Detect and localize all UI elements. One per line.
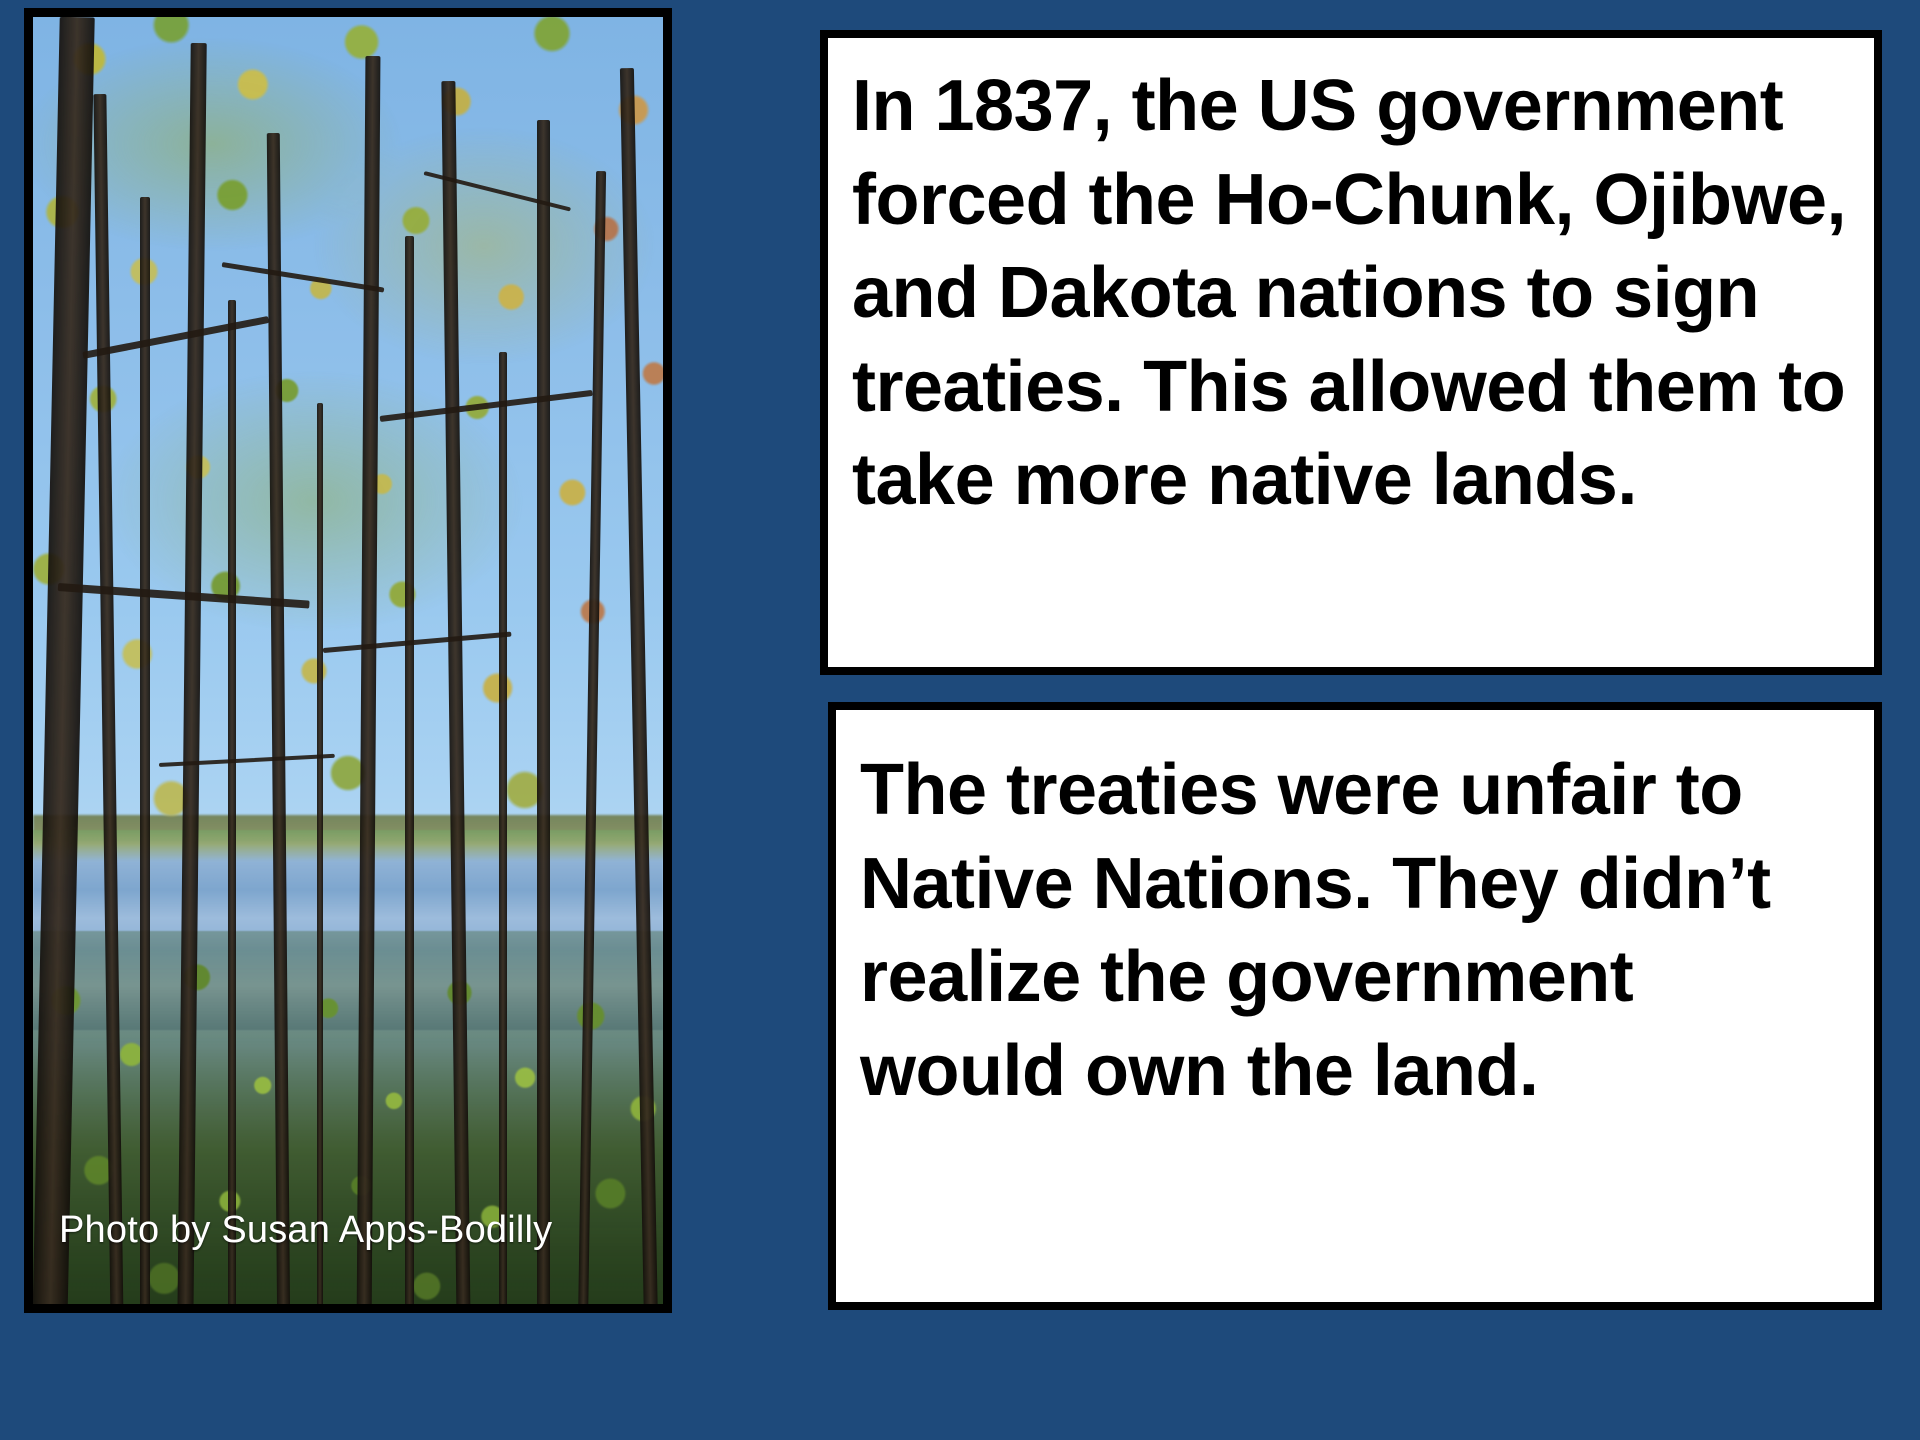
tree-branch <box>222 262 385 293</box>
tree-trunk <box>317 403 324 1304</box>
tree-trunk <box>356 56 380 1304</box>
tree-branch <box>83 316 270 359</box>
photo-frame: Photo by Susan Apps-Bodilly <box>24 8 672 1313</box>
text-box-treaty-signing: In 1837, the US government forced the Ho… <box>820 30 1882 675</box>
tree-trunk <box>578 171 606 1304</box>
photo-credit-caption: Photo by Susan Apps-Bodilly <box>59 1209 552 1252</box>
tree-trunk <box>441 81 470 1304</box>
forest-photo: Photo by Susan Apps-Bodilly <box>33 17 663 1304</box>
text-box-treaty-unfairness-body: The treaties were unfair to Native Natio… <box>860 744 1856 1118</box>
tree-branch <box>323 631 512 652</box>
tree-trunk <box>94 94 124 1304</box>
tree-trunk <box>33 17 94 1304</box>
tree-trunk <box>499 352 507 1304</box>
tree-trunk <box>228 300 236 1304</box>
tree-trunk <box>619 68 658 1304</box>
tree-trunk <box>267 133 290 1304</box>
tree-trunk <box>177 43 207 1304</box>
tree-trunks-layer <box>33 17 663 1304</box>
tree-trunk <box>140 197 149 1304</box>
tree-trunk <box>537 120 550 1304</box>
tree-trunk <box>405 236 414 1304</box>
text-box-treaty-unfairness: The treaties were unfair to Native Natio… <box>828 702 1882 1310</box>
text-box-treaty-signing-body: In 1837, the US government forced the Ho… <box>852 60 1856 528</box>
slide-canvas: Photo by Susan Apps-Bodilly In 1837, the… <box>0 0 1920 1440</box>
